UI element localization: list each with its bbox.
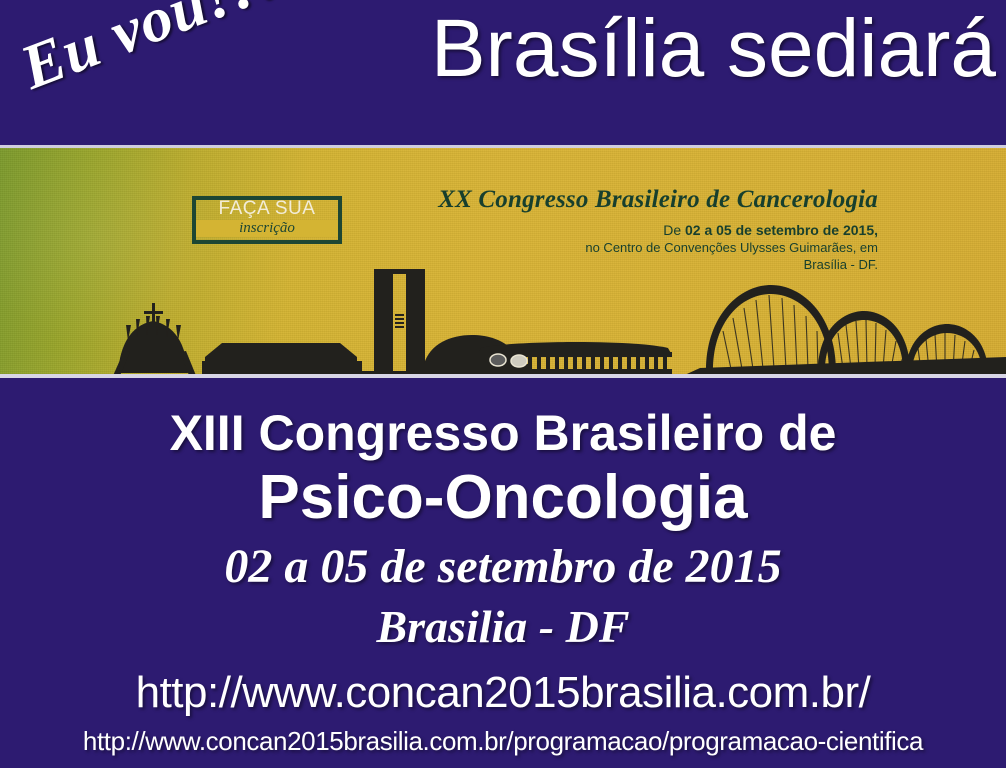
eu-vou-sticker: Eu vou!!! (11, 0, 289, 105)
banner-event-title: XX Congresso Brasileiro de Cancerologia (438, 186, 878, 214)
header-band: Brasília sediará Eu vou!!! (0, 0, 1006, 145)
banner-event-venue: no Centro de Convenções Ulysses Guimarãe… (585, 240, 878, 255)
banner-event-date: De 02 a 05 de setembro de 2015, (663, 222, 878, 238)
main-place-line: Brasilia - DF (0, 600, 1006, 653)
badge-line-1: FAÇA SUA (196, 198, 338, 220)
main-website-link[interactable]: http://www.concan2015brasilia.com.br/ (0, 668, 1006, 718)
main-title-line-1: XIII Congresso Brasileiro de (0, 404, 1006, 462)
main-date-line: 02 a 05 de setembro de 2015 (0, 539, 1006, 594)
banner-date-prefix: De (663, 222, 685, 238)
banner-event-city: Brasília - DF. (804, 257, 878, 272)
poster-root: Brasília sediará Eu vou!!! (0, 0, 1006, 768)
faca-sua-inscricao-badge[interactable]: FAÇA SUA inscrição (192, 196, 342, 244)
scientific-program-link[interactable]: http://www.concan2015brasilia.com.br/pro… (0, 726, 1006, 757)
banner-bottom-divider (0, 374, 1006, 378)
main-title-line-2: Psico-Oncologia (0, 462, 1006, 533)
badge-line-2: inscrição (196, 220, 338, 237)
banner-top-divider (0, 145, 1006, 148)
page-title: Brasília sediará (431, 6, 996, 92)
banner-date-strong: 02 a 05 de setembro de 2015, (685, 222, 878, 238)
